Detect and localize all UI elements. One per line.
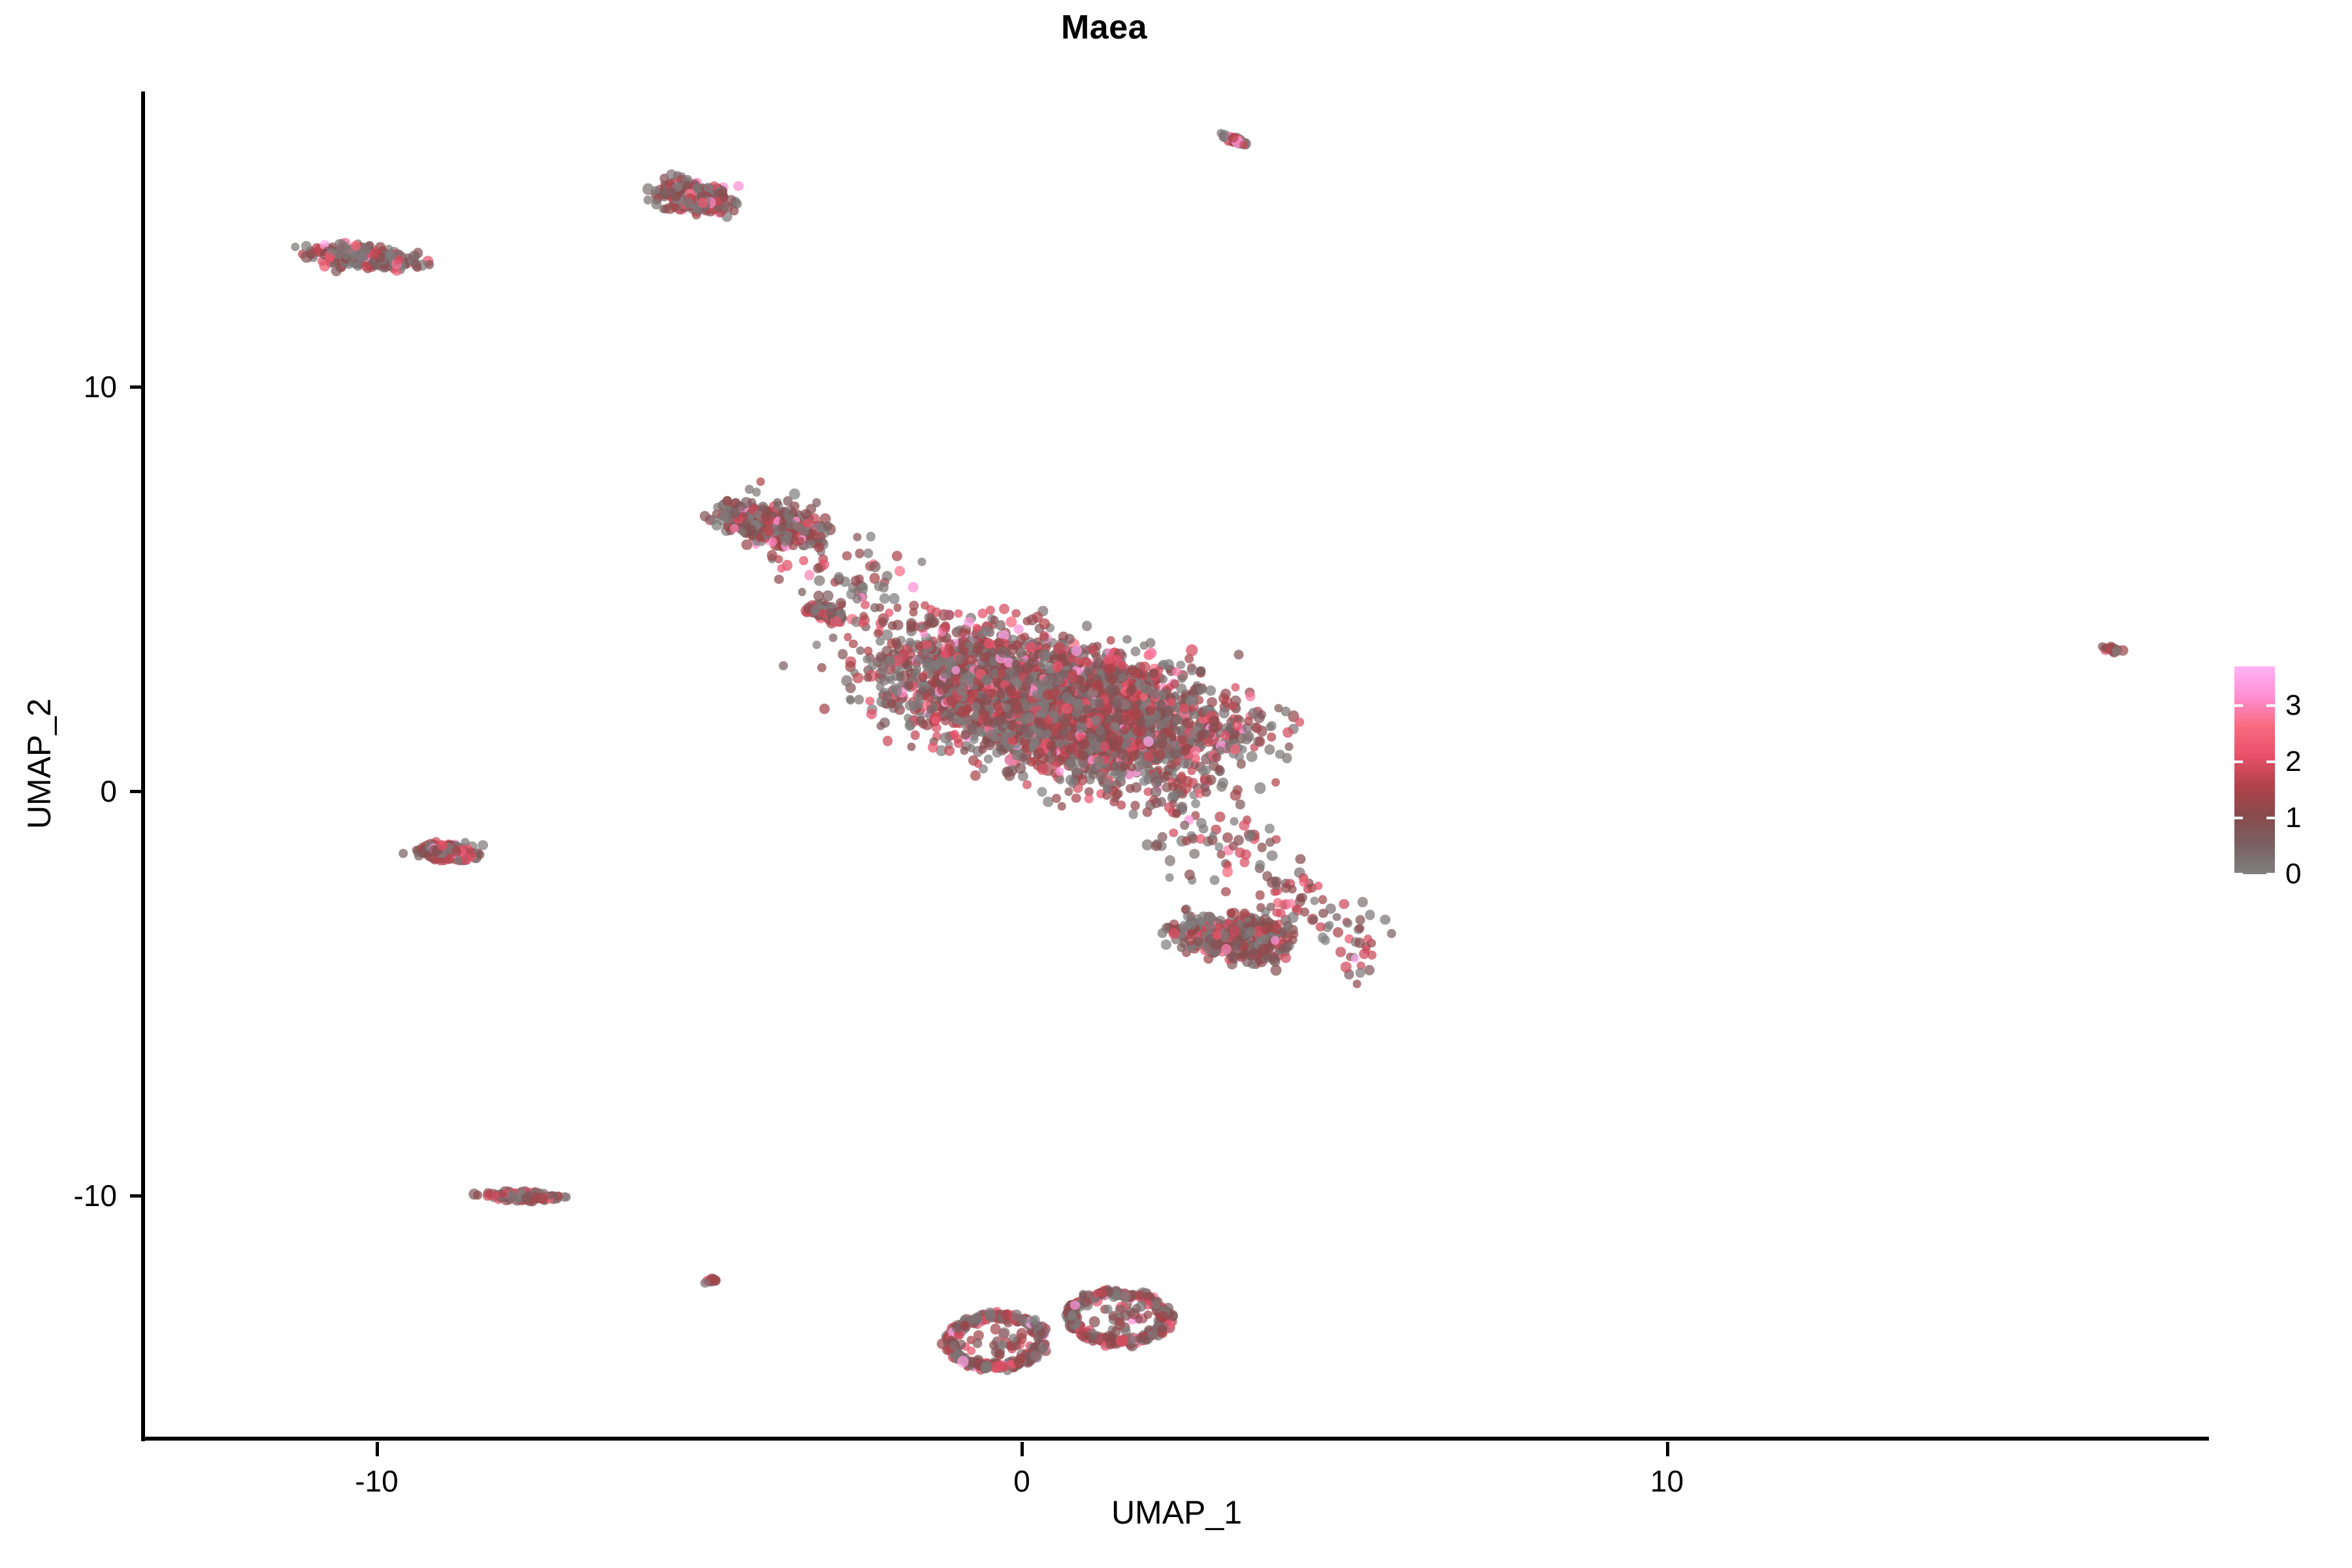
scatter-point bbox=[1083, 705, 1092, 714]
scatter-point bbox=[1169, 749, 1180, 759]
scatter-point bbox=[1064, 787, 1073, 796]
scatter-point bbox=[734, 181, 743, 191]
scatter-point bbox=[1282, 727, 1293, 738]
scatter-point bbox=[907, 742, 915, 751]
scatter-point bbox=[1156, 750, 1166, 760]
scatter-point bbox=[1118, 661, 1126, 670]
scatter-point bbox=[944, 745, 955, 756]
scatter-point bbox=[1107, 636, 1115, 645]
scatter-points-layer bbox=[144, 91, 2209, 1439]
scatter-point bbox=[698, 197, 709, 208]
scatter-point bbox=[1296, 718, 1305, 727]
scatter-point bbox=[1128, 666, 1137, 676]
scatter-point bbox=[919, 686, 928, 695]
scatter-point bbox=[1197, 685, 1207, 694]
scatter-point bbox=[1131, 647, 1141, 657]
scatter-point bbox=[983, 754, 992, 763]
scatter-point bbox=[1156, 732, 1168, 743]
scatter-point bbox=[1264, 745, 1274, 755]
scatter-point bbox=[1043, 729, 1053, 738]
scatter-point bbox=[1196, 666, 1205, 676]
scatter-point bbox=[1252, 723, 1262, 733]
scatter-point bbox=[1143, 751, 1154, 762]
scatter-point bbox=[866, 709, 877, 719]
umap-feature-plot: Maea 100-10-10010 UMAP_1 UMAP_2 3210 bbox=[0, 0, 2352, 1568]
scatter-point bbox=[1220, 689, 1231, 699]
scatter-point bbox=[1186, 645, 1198, 656]
scatter-point bbox=[1014, 664, 1024, 675]
scatter-point bbox=[1275, 749, 1285, 759]
scatter-point bbox=[1037, 787, 1047, 797]
scatter-point bbox=[331, 265, 342, 276]
scatter-point bbox=[1159, 675, 1168, 684]
scatter-point bbox=[1127, 685, 1137, 694]
scatter-point bbox=[1281, 707, 1291, 717]
scatter-point bbox=[1173, 715, 1183, 725]
scatter-point bbox=[1112, 710, 1121, 719]
scatter-point bbox=[1233, 785, 1243, 795]
scatter-point bbox=[813, 640, 821, 649]
scatter-point bbox=[651, 199, 662, 210]
scatter-point bbox=[1172, 726, 1181, 734]
scatter-point bbox=[1245, 691, 1255, 701]
scatter-point bbox=[1205, 685, 1216, 696]
scatter-point bbox=[358, 252, 368, 262]
scatter-point bbox=[1058, 802, 1066, 811]
scatter-point bbox=[711, 521, 722, 531]
scatter-point bbox=[291, 242, 300, 251]
scatter-point bbox=[1267, 732, 1276, 742]
scatter-point bbox=[730, 206, 740, 216]
scatter-point bbox=[999, 604, 1009, 614]
scatter-point bbox=[904, 720, 915, 731]
scatter-point bbox=[963, 704, 973, 713]
scatter-point bbox=[1032, 690, 1043, 700]
scatter-point bbox=[1215, 765, 1224, 774]
scatter-point bbox=[1241, 734, 1252, 745]
scatter-point bbox=[1209, 716, 1219, 727]
scatter-point bbox=[1179, 759, 1189, 768]
scatter-point bbox=[1145, 638, 1155, 648]
scatter-point bbox=[362, 244, 371, 253]
scatter-point bbox=[1207, 697, 1217, 708]
scatter-point bbox=[854, 694, 864, 704]
scatter-point bbox=[826, 609, 836, 619]
scatter-point bbox=[1190, 745, 1200, 755]
scatter-point bbox=[1233, 649, 1243, 659]
scatter-point bbox=[843, 633, 852, 642]
page-title: Maea bbox=[0, 8, 2208, 47]
scatter-point bbox=[1219, 708, 1230, 718]
scatter-point bbox=[829, 634, 838, 642]
scatter-point bbox=[876, 722, 885, 730]
scatter-point bbox=[1271, 778, 1281, 787]
scatter-point bbox=[875, 637, 885, 646]
scatter-point bbox=[1111, 699, 1122, 710]
scatter-point bbox=[1229, 702, 1238, 711]
scatter-point bbox=[1230, 745, 1241, 755]
scatter-point bbox=[896, 672, 905, 681]
scatter-point bbox=[864, 647, 872, 655]
scatter-point bbox=[1285, 742, 1294, 751]
scatter-point bbox=[853, 672, 864, 683]
scatter-point bbox=[730, 524, 739, 533]
scatter-point bbox=[659, 188, 670, 199]
scatter-point bbox=[1092, 680, 1103, 691]
scatter-point bbox=[1145, 706, 1154, 715]
scatter-point bbox=[1095, 698, 1105, 708]
scatter-point bbox=[841, 675, 852, 686]
scatter-point bbox=[876, 683, 885, 691]
scatter-point bbox=[370, 250, 380, 259]
scatter-point bbox=[342, 251, 350, 259]
scatter-point bbox=[932, 716, 940, 725]
scatter-point bbox=[1220, 730, 1230, 740]
scatter-point bbox=[1081, 657, 1092, 668]
scatter-point bbox=[1145, 647, 1156, 659]
scatter-point bbox=[970, 770, 981, 781]
scatter-point bbox=[704, 183, 713, 193]
scatter-point bbox=[1231, 683, 1239, 692]
scatter-point bbox=[1007, 644, 1018, 655]
scatter-point bbox=[1141, 684, 1151, 694]
scatter-point bbox=[967, 743, 975, 752]
scatter-point bbox=[1247, 751, 1258, 762]
scatter-point bbox=[1120, 727, 1129, 735]
scatter-point bbox=[411, 260, 421, 270]
scatter-point bbox=[1020, 632, 1029, 642]
scatter-point bbox=[951, 730, 960, 739]
scatter-point bbox=[883, 736, 893, 746]
scatter-point bbox=[1034, 728, 1043, 737]
scatter-point bbox=[1239, 140, 1249, 150]
scatter-point bbox=[1082, 621, 1092, 631]
scatter-point bbox=[1107, 674, 1117, 685]
scatter-point bbox=[1187, 767, 1196, 776]
scatter-point bbox=[811, 605, 821, 615]
plot-panel bbox=[144, 91, 2209, 1439]
scatter-point bbox=[1122, 635, 1132, 644]
scatter-point bbox=[1056, 776, 1064, 784]
scatter-point bbox=[974, 760, 983, 768]
scatter-point bbox=[1255, 736, 1266, 747]
scatter-point bbox=[1145, 718, 1154, 727]
scatter-point bbox=[1213, 753, 1221, 761]
scatter-point bbox=[713, 503, 722, 512]
scatter-point bbox=[978, 608, 988, 618]
scatter-point bbox=[1198, 766, 1208, 776]
scatter-point bbox=[1185, 696, 1194, 706]
scatter-point bbox=[1254, 783, 1266, 794]
scatter-point bbox=[1011, 609, 1021, 618]
scatter-point bbox=[779, 661, 788, 670]
scatter-point bbox=[351, 240, 361, 251]
scatter-point bbox=[913, 664, 922, 674]
scatter-point bbox=[1022, 780, 1032, 789]
scatter-point bbox=[1215, 811, 1224, 821]
scatter-point bbox=[864, 674, 872, 682]
scatter-point bbox=[847, 696, 855, 705]
scatter-point bbox=[1126, 710, 1134, 718]
scatter-point bbox=[817, 663, 826, 672]
scatter-point bbox=[819, 704, 830, 714]
scatter-point bbox=[325, 253, 335, 263]
scatter-point bbox=[910, 730, 919, 740]
